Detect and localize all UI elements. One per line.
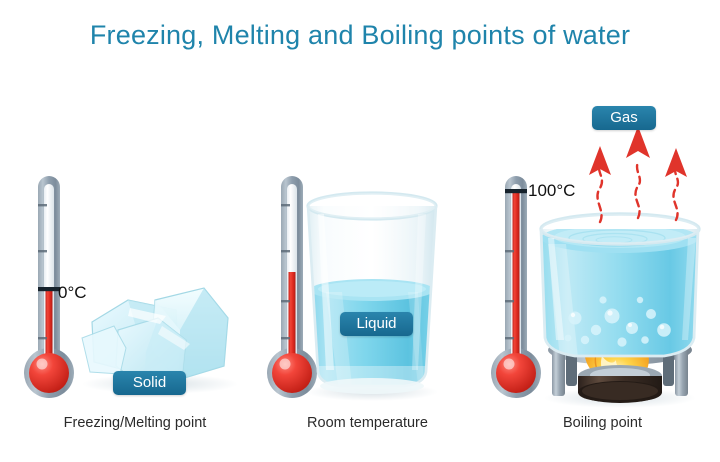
temperature-label-freezing: 0°C xyxy=(58,283,87,303)
state-badge-gas: Gas xyxy=(592,106,656,130)
caption-boiling: Boiling point xyxy=(490,415,715,431)
tick-hundred xyxy=(505,189,527,193)
tick-minor xyxy=(281,300,290,302)
state-badge-solid: Solid xyxy=(113,371,186,395)
beaker-icon xyxy=(534,214,704,362)
temperature-label-boiling: 100°C xyxy=(528,181,575,201)
tick-minor xyxy=(38,250,47,252)
steam-arrows xyxy=(589,126,687,222)
tick-minor xyxy=(38,204,47,206)
tick-minor xyxy=(38,337,47,339)
tick-minor xyxy=(281,337,290,339)
tick-minor xyxy=(505,250,514,252)
tick-minor xyxy=(281,250,290,252)
state-badge-liquid: Liquid xyxy=(340,312,413,336)
tick-minor xyxy=(281,204,290,206)
glass-of-water-icon xyxy=(300,193,444,394)
caption-room: Room temperature xyxy=(255,415,480,431)
tick-zero xyxy=(38,287,60,291)
tick-minor xyxy=(505,300,514,302)
illustration xyxy=(0,0,720,462)
tick-minor xyxy=(505,337,514,339)
burner-icon xyxy=(578,365,662,403)
steam-arrow-icon xyxy=(589,146,611,222)
steam-arrow-icon xyxy=(665,148,687,220)
caption-freezing: Freezing/Melting point xyxy=(20,415,250,431)
thermometer-boiling xyxy=(491,176,541,398)
diagram-canvas: Freezing, Melting and Boiling points of … xyxy=(0,0,720,462)
steam-arrow-icon xyxy=(626,126,650,218)
